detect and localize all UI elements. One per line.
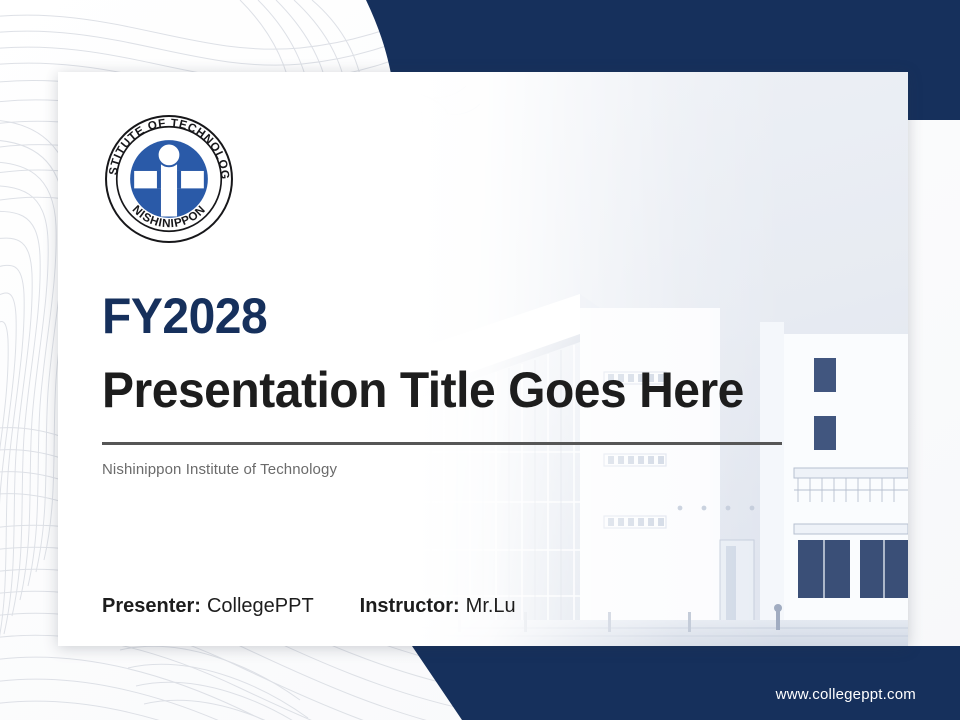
instructor-value: Mr.Lu	[466, 595, 516, 617]
instructor-field: Instructor:Mr.Lu	[360, 595, 516, 618]
title-block: FY2028 Presentation Title Goes Here Nish…	[102, 290, 862, 478]
university-logo-icon: INSTITUTE OF TECHNOLOGY NISHINIPPON	[102, 112, 236, 246]
presenter-label: Presenter:	[102, 595, 201, 617]
page-title: Presentation Title Goes Here	[102, 363, 832, 418]
presenter-field: Presenter:CollegePPT	[102, 595, 314, 618]
fiscal-year-heading: FY2028	[102, 290, 832, 343]
organization-subtitle: Nishinippon Institute of Technology	[102, 461, 862, 478]
slide-content-card: INSTITUTE OF TECHNOLOGY NISHINIPPON FY20…	[58, 72, 908, 646]
footer-website-url[interactable]: www.collegeppt.com	[776, 686, 916, 703]
presenter-value: CollegePPT	[207, 595, 314, 617]
instructor-label: Instructor:	[360, 595, 460, 617]
credits-row: Presenter:CollegePPT Instructor:Mr.Lu	[102, 595, 516, 618]
presentation-cover-slide: INSTITUTE OF TECHNOLOGY NISHINIPPON FY20…	[0, 0, 960, 720]
title-divider-rule	[102, 442, 782, 445]
